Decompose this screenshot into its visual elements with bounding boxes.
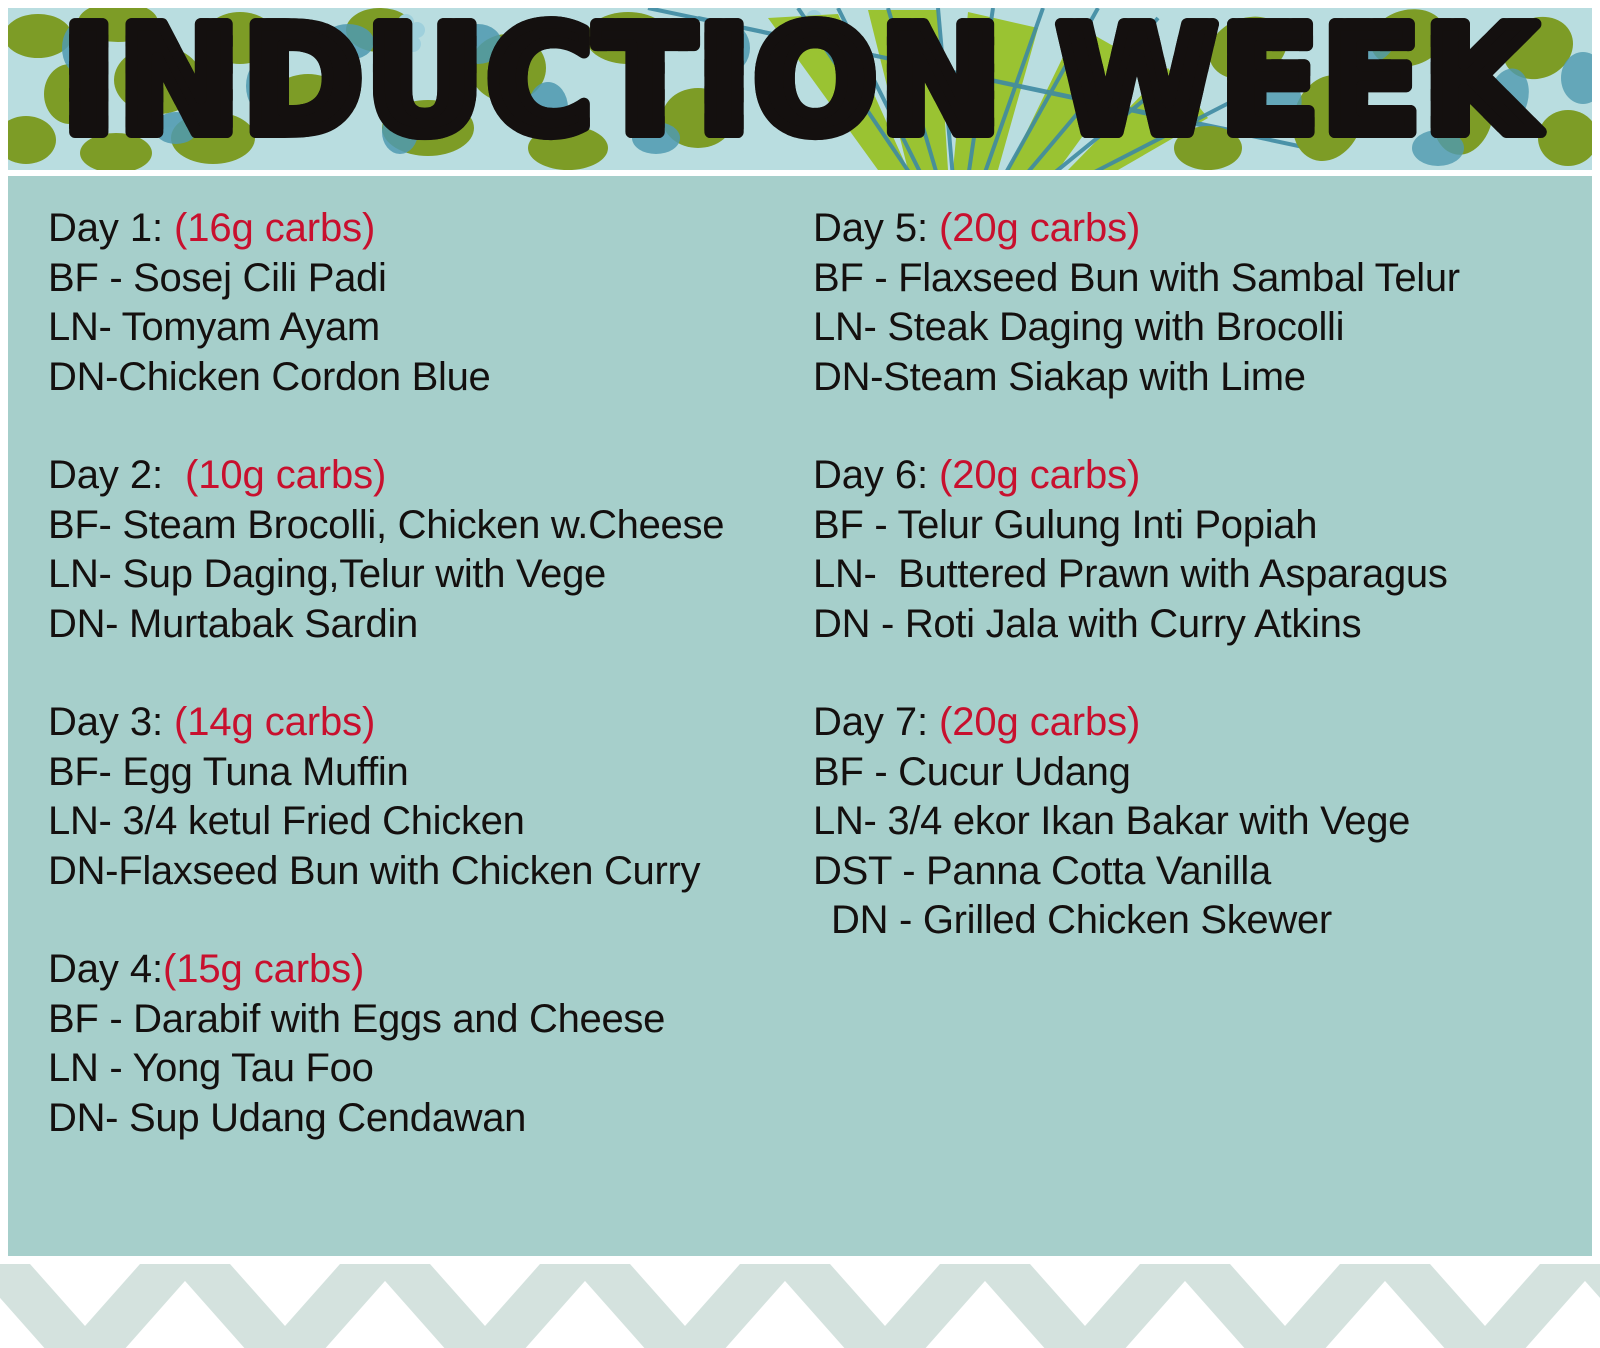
day-7-meal-bf: BF - Cucur Udang — [813, 748, 1592, 798]
day-3-meal-bf: BF- Egg Tuna Muffin — [48, 748, 798, 798]
day-2-carbs: (10g carbs) — [185, 453, 386, 497]
day-4-meal-bf: BF - Darabif with Eggs and Cheese — [48, 995, 798, 1045]
day-1-meal-ln: LN- Tomyam Ayam — [48, 303, 798, 353]
day-block-6: Day 6: (20g carbs) BF - Telur Gulung Int… — [813, 451, 1592, 649]
day-block-5: Day 5: (20g carbs) BF - Flaxseed Bun wit… — [813, 204, 1592, 402]
day-1-meal-bf: BF - Sosej Cili Padi — [48, 254, 798, 304]
header-title-container: INDUCTION WEEK — [8, 8, 1592, 170]
day-4-meal-dn: DN- Sup Udang Cendawan — [48, 1094, 798, 1144]
bottom-chevron-border — [0, 1264, 1600, 1348]
menu-columns: Day 1: (16g carbs) BF - Sosej Cili Padi … — [8, 176, 1592, 1256]
day-5-meal-dn: DN-Steam Siakap with Lime — [813, 353, 1592, 403]
day-block-7: Day 7: (20g carbs) BF - Cucur Udang LN- … — [813, 698, 1592, 946]
header-banner: INDUCTION WEEK — [8, 8, 1592, 170]
day-2-meal-ln: LN- Sup Daging,Telur with Vege — [48, 550, 798, 600]
day-6-meal-dn: DN - Roti Jala with Curry Atkins — [813, 600, 1592, 650]
day-block-2: Day 2: (10g carbs) BF- Steam Brocolli, C… — [48, 451, 798, 649]
day-2-meal-dn: DN- Murtabak Sardin — [48, 600, 798, 650]
day-1-label: Day 1: — [48, 206, 174, 250]
day-3-carbs: (14g carbs) — [174, 700, 375, 744]
menu-column-left: Day 1: (16g carbs) BF - Sosej Cili Padi … — [8, 176, 798, 1256]
day-6-carbs: (20g carbs) — [939, 453, 1140, 497]
page-title: INDUCTION WEEK — [35, 14, 1565, 164]
day-6-meal-bf: BF - Telur Gulung Inti Popiah — [813, 501, 1592, 551]
menu-panel: Day 1: (16g carbs) BF - Sosej Cili Padi … — [8, 176, 1592, 1256]
day-4-meal-ln: LN - Yong Tau Foo — [48, 1044, 798, 1094]
day-block-1: Day 1: (16g carbs) BF - Sosej Cili Padi … — [48, 204, 798, 402]
day-block-3: Day 3: (14g carbs) BF- Egg Tuna Muffin L… — [48, 698, 798, 896]
day-3-meal-dn: DN-Flaxseed Bun with Chicken Curry — [48, 847, 798, 897]
menu-column-right: Day 5: (20g carbs) BF - Flaxseed Bun wit… — [798, 176, 1592, 1256]
day-7-heading: Day 7: (20g carbs) — [813, 698, 1592, 748]
chevron-pattern — [0, 1264, 1600, 1348]
day-4-label: Day 4: — [48, 947, 163, 991]
day-3-label: Day 3: — [48, 700, 174, 744]
day-5-label: Day 5: — [813, 206, 939, 250]
day-5-carbs: (20g carbs) — [939, 206, 1140, 250]
day-block-4: Day 4:(15g carbs) BF - Darabif with Eggs… — [48, 945, 798, 1143]
day-1-meal-dn: DN-Chicken Cordon Blue — [48, 353, 798, 403]
day-2-label: Day 2: — [48, 453, 185, 497]
day-6-meal-ln: LN- Buttered Prawn with Asparagus — [813, 550, 1592, 600]
day-6-label: Day 6: — [813, 453, 939, 497]
day-7-carbs: (20g carbs) — [939, 700, 1140, 744]
day-1-carbs: (16g carbs) — [174, 206, 375, 250]
poster-root: INDUCTION WEEK Day 1: (16g carbs) BF - S… — [0, 0, 1600, 1348]
day-1-heading: Day 1: (16g carbs) — [48, 204, 798, 254]
day-4-heading: Day 4:(15g carbs) — [48, 945, 798, 995]
day-7-meal-ln: LN- 3/4 ekor Ikan Bakar with Vege — [813, 797, 1592, 847]
day-7-meal-dn: DN - Grilled Chicken Skewer — [813, 896, 1592, 946]
day-2-meal-bf: BF- Steam Brocolli, Chicken w.Cheese — [48, 501, 798, 551]
page-title-outline — [62, 14, 1542, 164]
day-7-label: Day 7: — [813, 700, 939, 744]
day-7-meal-dst: DST - Panna Cotta Vanilla — [813, 847, 1592, 897]
day-3-heading: Day 3: (14g carbs) — [48, 698, 798, 748]
day-2-heading: Day 2: (10g carbs) — [48, 451, 798, 501]
day-3-meal-ln: LN- 3/4 ketul Fried Chicken — [48, 797, 798, 847]
day-5-meal-ln: LN- Steak Daging with Brocolli — [813, 303, 1592, 353]
day-4-carbs: (15g carbs) — [163, 947, 364, 991]
day-6-heading: Day 6: (20g carbs) — [813, 451, 1592, 501]
day-5-meal-bf: BF - Flaxseed Bun with Sambal Telur — [813, 254, 1592, 304]
day-5-heading: Day 5: (20g carbs) — [813, 204, 1592, 254]
